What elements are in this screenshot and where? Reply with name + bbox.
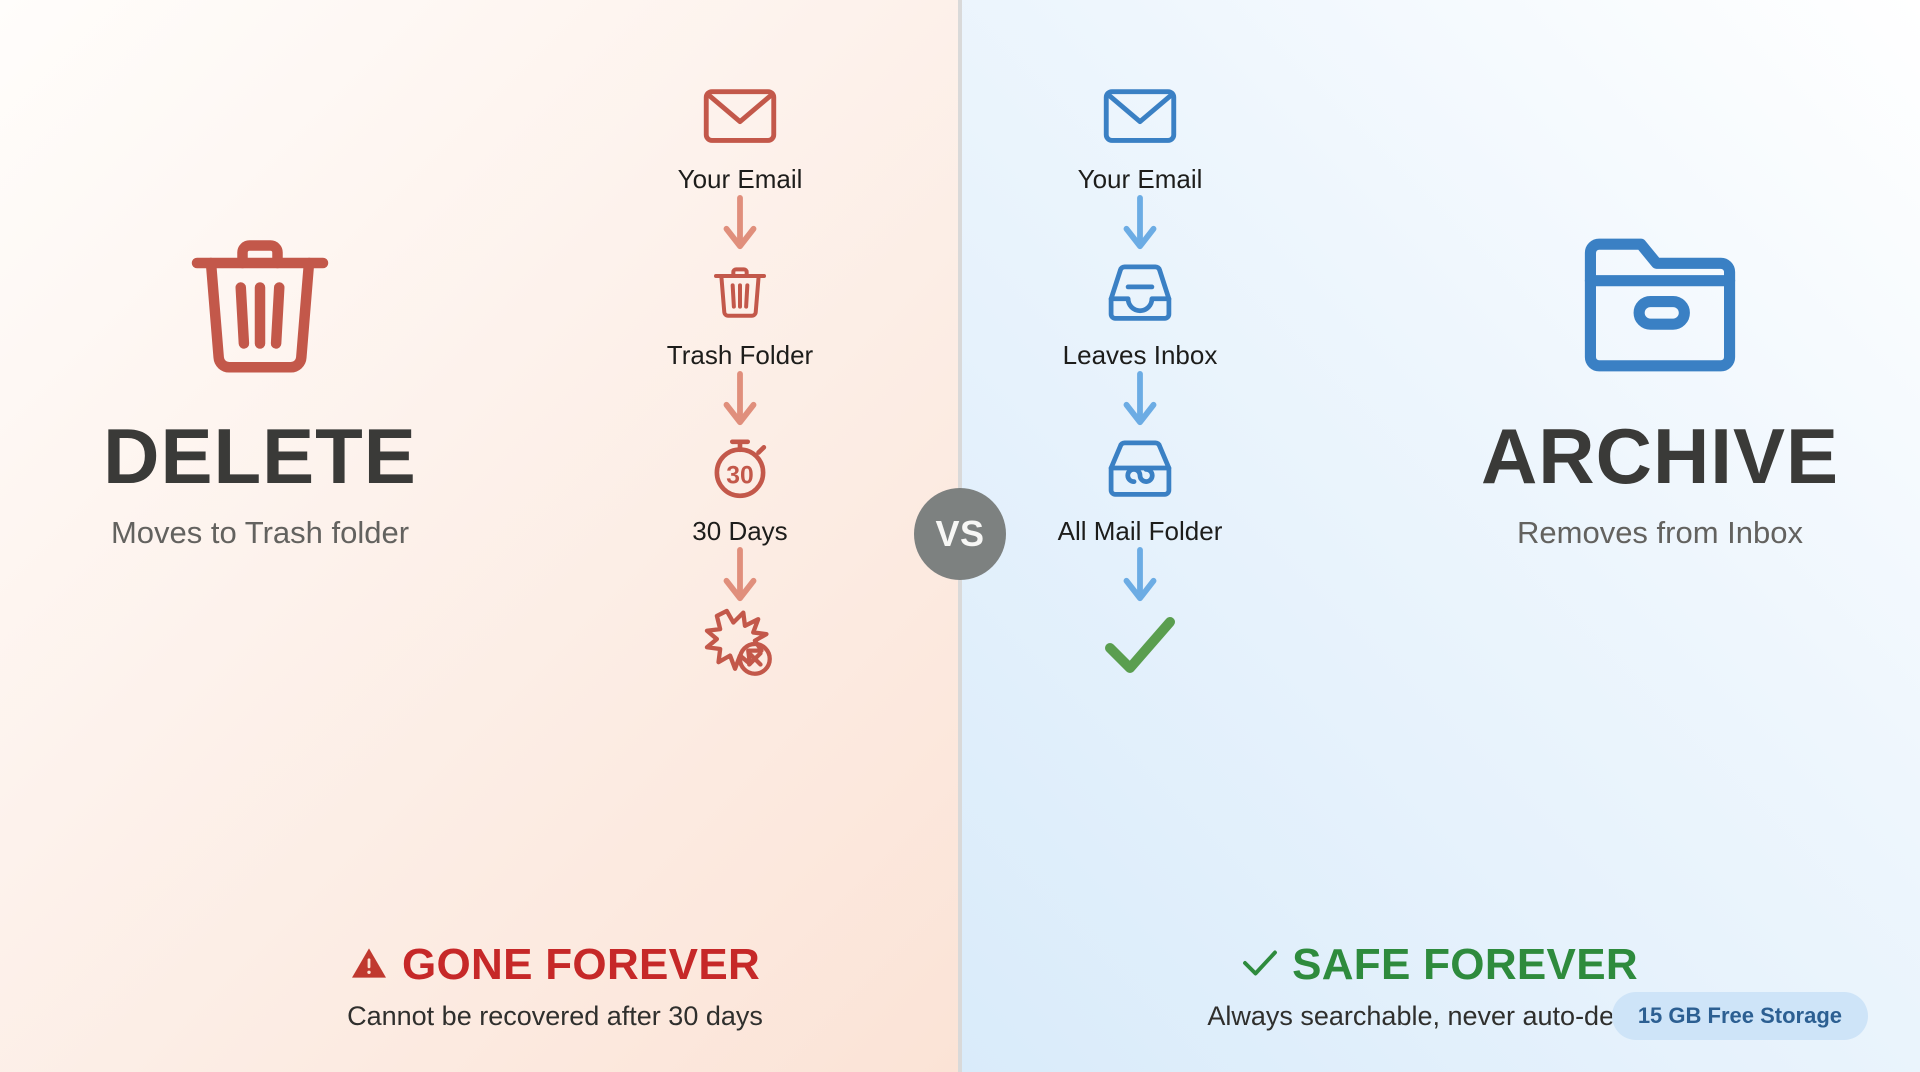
check-mark-icon [1242,948,1278,982]
flow-arrow-down-2 [720,368,760,430]
flow-step-trash-folder: Trash Folder [667,254,813,368]
flow-arrow-down-1 [1120,192,1160,254]
flow-step-destroyed [698,606,782,682]
flow-step-your-email: Your Email [1078,78,1203,192]
delete-hero: DELETE Moves to Trash folder [0,215,520,548]
svg-text:30: 30 [726,462,753,489]
archive-flow: Your Email Leaves Inbox [990,78,1290,682]
warning-triangle-icon [350,946,388,984]
archive-subtitle: Removes from Inbox [1517,517,1803,548]
inbox-tray-minus-icon [1102,254,1178,330]
archive-panel: ARCHIVE Removes from Inbox Your Email [960,0,1920,1072]
flow-step-leaves-inbox: Leaves Inbox [1063,254,1218,368]
flow-step-safe [1100,606,1180,682]
infographic-canvas: DELETE Moves to Trash folder Your Email [0,0,1920,1072]
trash-can-icon [176,215,344,395]
flow-arrow-down-2 [1120,368,1160,430]
delete-verdict: GONE FOREVER Cannot be recovered after 3… [175,943,935,1030]
delete-verdict-subtext: Cannot be recovered after 30 days [347,1003,763,1030]
explosion-x-icon [698,606,782,682]
check-mark-icon [1100,606,1180,682]
flow-label: Leaves Inbox [1063,342,1218,368]
flow-label: 30 Days [692,518,787,544]
archive-box-infinity-icon [1102,430,1178,506]
flow-arrow-down-1 [720,192,760,254]
delete-subtitle: Moves to Trash folder [111,517,409,548]
archive-verdict-headline-row: SAFE FOREVER [1242,943,1638,987]
delete-verdict-headline-row: GONE FOREVER [350,943,760,987]
delete-panel: DELETE Moves to Trash folder Your Email [0,0,960,1072]
page-title-delete: DELETE [103,417,417,495]
envelope-icon [702,78,778,154]
trash-can-icon [708,254,772,330]
flow-arrow-down-3 [1120,544,1160,606]
folder-icon [1576,215,1744,395]
archive-verdict-headline: SAFE FOREVER [1292,943,1638,987]
archive-hero: ARCHIVE Removes from Inbox [1400,215,1920,548]
versus-badge: VS [914,488,1006,580]
storage-badge[interactable]: 15 GB Free Storage [1612,992,1868,1040]
flow-label: Your Email [678,166,803,192]
stopwatch-30-icon: 30 [703,430,777,506]
flow-label: Trash Folder [667,342,813,368]
flow-step-your-email: Your Email [678,78,803,192]
page-title-archive: ARCHIVE [1481,417,1839,495]
delete-verdict-headline: GONE FOREVER [402,943,760,987]
flow-arrow-down-3 [720,544,760,606]
archive-verdict-subtext: Always searchable, never auto-deleted [1207,1003,1672,1030]
flow-step-all-mail-folder: All Mail Folder [1058,430,1223,544]
delete-flow: Your Email [590,78,890,682]
envelope-icon [1102,78,1178,154]
flow-label: All Mail Folder [1058,518,1223,544]
flow-label: Your Email [1078,166,1203,192]
flow-step-30-days: 30 30 Days [692,430,787,544]
